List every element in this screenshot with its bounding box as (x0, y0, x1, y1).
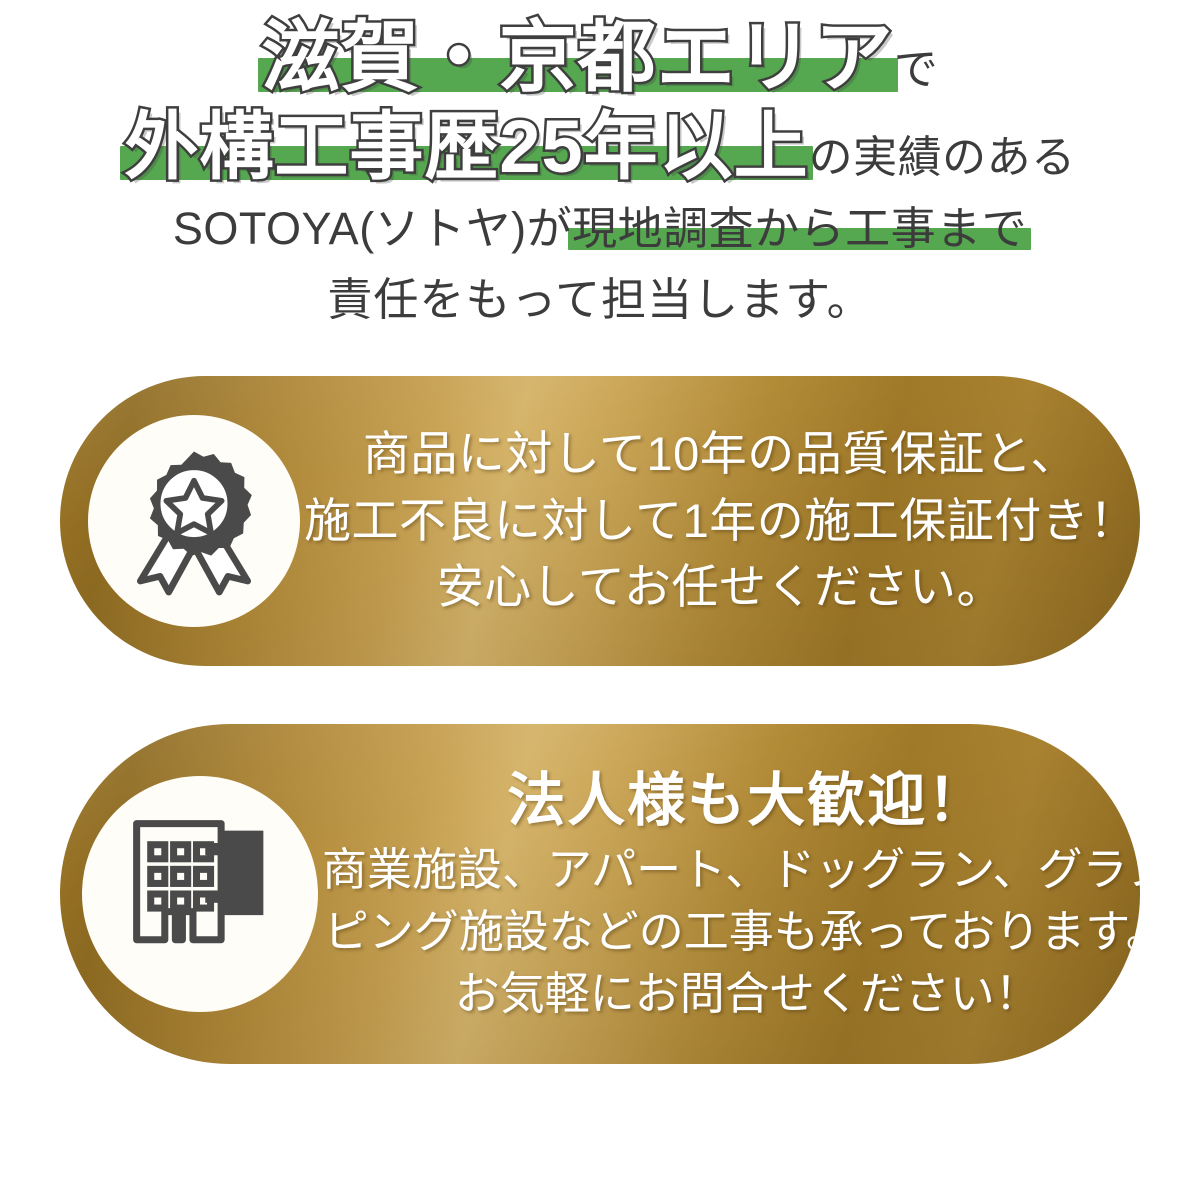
headline-block: 滋賀・京都エリアで 外構工事歴25年以上の実績のある SOTOYA(ソトヤ)が現… (0, 0, 1200, 322)
headline-line-4: 責任をもって担当します。 (0, 277, 1200, 322)
headline-highlight-area: 滋賀・京都エリア (262, 18, 894, 96)
headline-highlight-survey: 現地調査から工事まで (572, 206, 1027, 251)
headline-line-2-highlighted: 外構工事歴25年以上 (124, 105, 808, 188)
warranty-line-2: 施工不良に対して1年の施工保証付き！ (304, 488, 1137, 555)
warranty-line-1: 商品に対して10年の品質保証と、 (304, 421, 1137, 488)
building-windows (151, 845, 211, 908)
headline-line-4-text: 責任をもって担当します。 (327, 274, 872, 325)
corporate-line-1: 商業施設、アパート、ドッグラン、グラン (322, 839, 1140, 901)
headline-line-1: 滋賀・京都エリアで (0, 18, 1200, 96)
headline-line-3: SOTOYA(ソトヤ)が現地調査から工事まで (0, 206, 1200, 251)
corporate-heading: 法人様も大歓迎！ (322, 763, 1140, 838)
warranty-line-3: 安心してお任せください。 (304, 554, 1137, 621)
corporate-line-2: ピング施設などの工事も承っております。 (322, 901, 1140, 963)
headline-line-2-suffix: の実績のある (809, 133, 1076, 182)
feature-cards: 商品に対して10年の品質保証と、 施工不良に対して1年の施工保証付き！ 安心して… (0, 376, 1200, 1064)
headline-line-1-suffix: で (894, 45, 939, 94)
warranty-card: 商品に対して10年の品質保証と、 施工不良に対して1年の施工保証付き！ 安心して… (60, 376, 1140, 666)
corporate-line-3: お気軽にお問合せください！ (322, 963, 1140, 1025)
warranty-icon-circle (88, 415, 300, 627)
headline-highlight-experience: 外構工事歴25年以上 (124, 110, 808, 184)
award-ribbon-icon (115, 442, 273, 600)
promo-banner: 滋賀・京都エリアで 外構工事歴25年以上の実績のある SOTOYA(ソトヤ)が現… (0, 0, 1200, 1200)
headline-line-3-prefix: SOTOYA(ソトヤ)が (173, 203, 572, 254)
headline-line-1-highlighted: 滋賀・京都エリア (262, 13, 894, 101)
warranty-card-text: 商品に対して10年の品質保証と、 施工不良に対して1年の施工保証付き！ 安心して… (300, 421, 1140, 621)
corporate-card-text: 法人様も大歓迎！ 商業施設、アパート、ドッグラン、グラン ピング施設などの工事も… (318, 763, 1140, 1025)
corporate-icon-circle (82, 776, 318, 1012)
office-building-icon (112, 806, 288, 982)
corporate-card: 法人様も大歓迎！ 商業施設、アパート、ドッグラン、グラン ピング施設などの工事も… (60, 724, 1140, 1064)
building-annex (221, 831, 263, 915)
headline-line-2: 外構工事歴25年以上の実績のある (0, 110, 1200, 184)
headline-line-3-highlighted: 現地調査から工事まで (572, 203, 1027, 254)
